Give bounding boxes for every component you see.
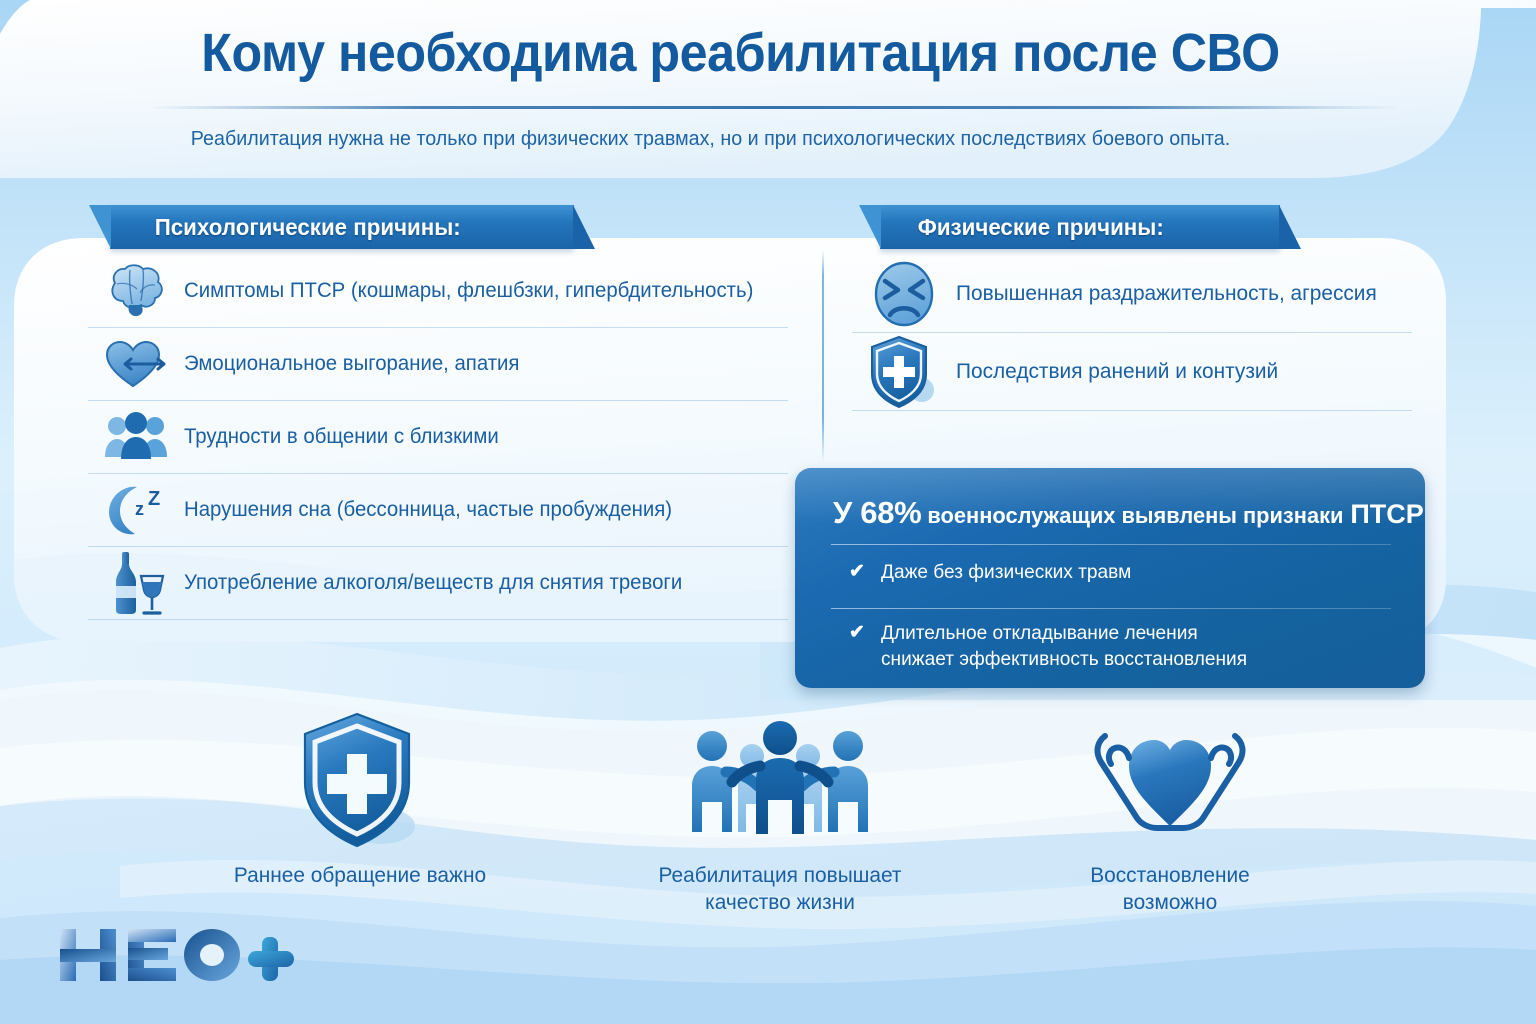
list-item-label: Трудности в общении с близкими xyxy=(184,425,499,449)
card-divider xyxy=(831,608,1391,609)
list-item: Повышенная раздражительность, агрессия xyxy=(852,255,1412,333)
page-title: Кому необходима реабилитация после СВО xyxy=(52,22,1429,84)
shield-cross-icon xyxy=(190,700,530,850)
people-support-icon xyxy=(610,700,950,850)
list-item-label: Нарушения сна (бессонница, частые пробуж… xyxy=(184,498,672,522)
list-item-label: Употребление алкоголя/веществ для снятия… xyxy=(184,571,682,595)
list-item-label: Симптомы ПТСР (кошмары, флешбзки, гиперб… xyxy=(184,279,753,303)
hands-heart-icon xyxy=(1000,700,1340,850)
section-heading-physical: Физические причины: xyxy=(880,205,1280,249)
card-bullet: ✔ Длительное откладывание лечения снижае… xyxy=(849,621,1395,672)
list-item-label: Последствия ранений и контузий xyxy=(956,359,1278,384)
physical-causes-list: Повышенная раздражительность, агрессия П… xyxy=(852,255,1412,411)
psychological-causes-list: Симптомы ПТСР (кошмары, флешбзки, гиперб… xyxy=(88,255,788,620)
list-item: z Z Нарушения сна (бессонница, частые пр… xyxy=(88,474,788,547)
benefit-item: Раннее обращение важно xyxy=(190,700,530,889)
list-item: Употребление алкоголя/веществ для снятия… xyxy=(88,547,788,620)
statistic-headline-end: ПТСР xyxy=(1350,499,1423,529)
list-item: Трудности в общении с близкими xyxy=(88,401,788,474)
svg-text:z: z xyxy=(135,499,144,519)
section-heading-psychological-label: Психологические причины: xyxy=(155,214,461,241)
people-group-icon xyxy=(88,411,184,463)
column-divider xyxy=(822,250,824,462)
section-heading-physical-label: Физические причины: xyxy=(918,214,1164,241)
benefit-caption: Раннее обращение важно xyxy=(195,862,525,889)
bottle-glass-icon xyxy=(88,550,184,616)
angry-face-icon xyxy=(852,260,956,328)
card-bullet-label: Даже без физических травм xyxy=(881,560,1131,586)
benefit-caption: Восстановление возможно xyxy=(1005,862,1335,916)
infographic-canvas: Кому необходима реабилитация после СВО Р… xyxy=(0,0,1536,1024)
card-divider xyxy=(831,544,1391,545)
check-icon: ✔ xyxy=(849,560,881,584)
statistic-headline-middle: военнослужащих выявлены признаки xyxy=(928,503,1344,529)
benefits-row: Раннее обращение важно xyxy=(0,700,1536,940)
statistic-percent: У 68% xyxy=(833,495,921,530)
check-icon: ✔ xyxy=(849,621,881,645)
card-bullet: ✔ Даже без физических травм xyxy=(849,560,1395,586)
brain-icon xyxy=(88,263,184,319)
list-item-label: Эмоциональное выгорание, апатия xyxy=(184,352,519,376)
svg-text:Z: Z xyxy=(148,488,160,510)
list-item: Эмоциональное выгорание, апатия xyxy=(88,328,788,401)
list-item-label: Повышенная раздражительность, агрессия xyxy=(956,281,1377,306)
moon-sleep-icon: z Z xyxy=(88,481,184,539)
statistic-card: У 68% военнослужащих выявлены признаки П… xyxy=(795,468,1425,688)
list-item: Симптомы ПТСР (кошмары, флешбзки, гиперб… xyxy=(88,255,788,328)
section-heading-psychological: Психологические причины: xyxy=(110,205,574,249)
list-item: Последствия ранений и контузий xyxy=(852,333,1412,411)
brand-logo xyxy=(56,921,296,989)
page-subtitle: Реабилитация нужна не только при физичес… xyxy=(28,127,1392,151)
benefit-caption: Реабилитация повышает качество жизни xyxy=(615,862,945,916)
benefit-item: Реабилитация повышает качество жизни xyxy=(610,700,950,916)
statistic-headline: У 68% военнослужащих выявлены признаки П… xyxy=(833,495,1401,531)
heart-drain-icon xyxy=(88,336,184,392)
card-bullet-label: Длительное откладывание лечения снижает … xyxy=(881,621,1247,672)
shield-cross-icon xyxy=(852,334,956,410)
header-panel: Кому необходима реабилитация после СВО Р… xyxy=(0,0,1481,178)
benefit-item: Восстановление возможно xyxy=(1000,700,1340,916)
title-divider xyxy=(148,106,1400,109)
